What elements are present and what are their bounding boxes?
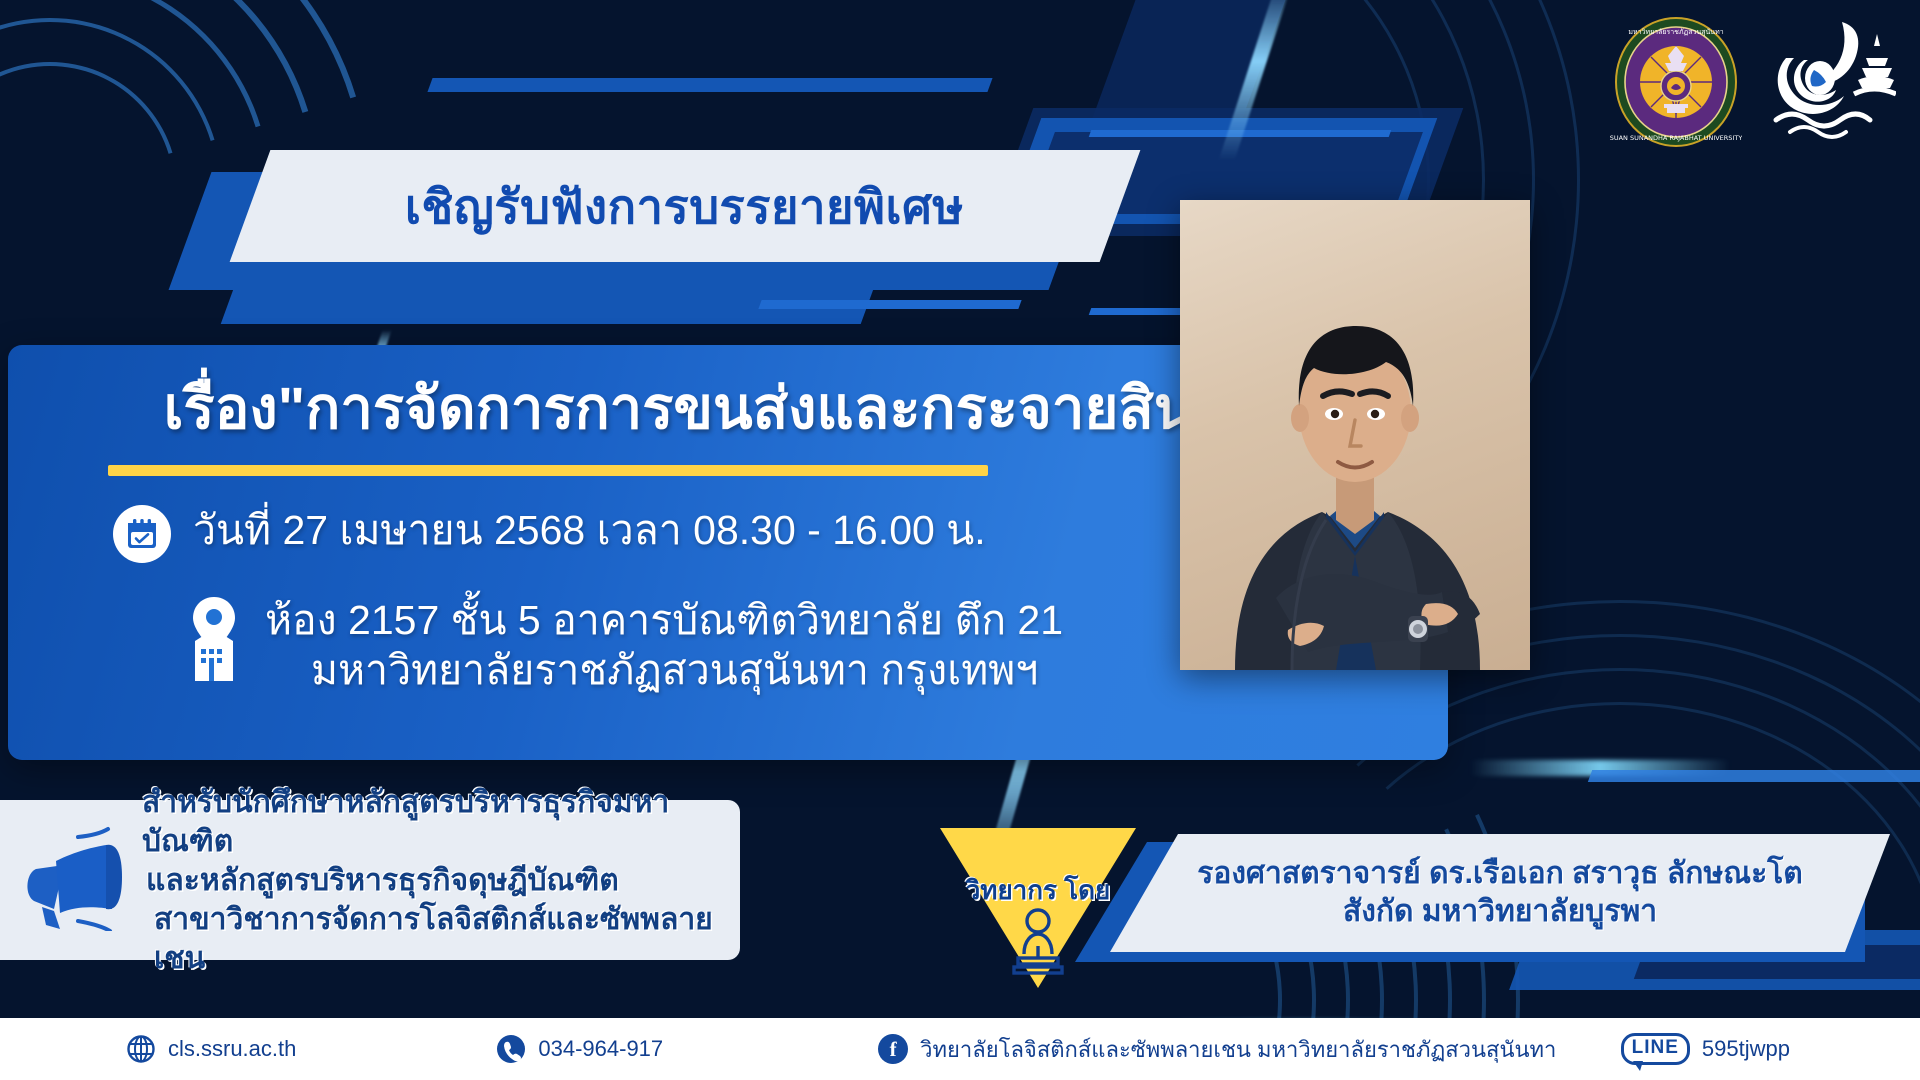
podium-speaker-icon [1002,908,1074,981]
footer-line[interactable]: LINE 595tjwpp [1621,1033,1790,1065]
contact-footer: cls.ssru.ac.th 034-964-917 f วิทยาลัยโลจ… [0,1018,1920,1080]
location-building-icon [183,595,245,690]
speaker-photo [1180,200,1530,670]
phone-icon [496,1034,526,1064]
footer-phone-text: 034-964-917 [538,1036,663,1062]
footer-facebook-text: วิทยาลัยโลจิสติกส์และซัพพลายเชน มหาวิทยา… [920,1032,1556,1067]
footer-website[interactable]: cls.ssru.ac.th [126,1034,296,1064]
venue-line-1: ห้อง 2157 ชั้น 5 อาคารบัณฑิตวิทยาลัย ตึก… [265,595,1063,645]
speaker-name-panel: รองศาสตราจารย์ ดร.เรือเอก สราวุธ ลักษณะโ… [1110,834,1890,952]
footer-line-text: 595tjwpp [1702,1036,1790,1062]
event-venue-row: ห้อง 2157 ชั้น 5 อาคารบัณฑิตวิทยาลัย ตึก… [183,595,1063,695]
speaker-affiliation: สังกัด มหาวิทยาลัยบูรพา [1343,893,1657,931]
logo-group: มหาวิทยาลัยราชภัฏสวนสุนันทา SUAN SUNANDH… [1610,16,1896,148]
venue-line-2: มหาวิทยาลัยราชภัฏสวนสุนันทา กรุงเทพฯ [265,645,1063,695]
footer-phone[interactable]: 034-964-917 [496,1034,663,1064]
footer-facebook[interactable]: f วิทยาลัยโลจิสติกส์และซัพพลายเชน มหาวิท… [878,1032,1556,1067]
speaker-portrait-illustration [1180,200,1530,670]
megaphone-icon [20,825,128,936]
audience-info-box: สำหรับนักศึกษาหลักสูตรบริหารธุรกิจมหาบัณ… [0,800,740,960]
audience-line-3: สาขาวิชาการจัดการโลจิสติกส์และซัพพลายเชน [154,900,740,978]
footer-website-text: cls.ssru.ac.th [168,1036,296,1062]
seal-bottom-text: SUAN SUNANDHA RAJABHAT UNIVERSITY [1610,134,1742,142]
audience-text-group: สำหรับนักศึกษาหลักสูตรบริหารธุรกิจมหาบัณ… [142,783,740,978]
title-underline-rule [108,465,988,476]
facebook-icon: f [878,1034,908,1064]
audience-line-2: และหลักสูตรบริหารธุรกิจดุษฎีบัณฑิต [146,861,740,900]
speaker-label: วิทยากร โดย [940,870,1136,911]
calendar-icon [113,505,171,563]
event-date-row: วันที่ 27 เมษายน 2568 เวลา 08.30 - 16.00… [113,505,986,563]
banner-title: เชิญรับฟังการบรรยายพิเศษ [405,169,964,244]
seal-top-text: มหาวิทยาลัยราชภัฏสวนสุนันทา [1628,28,1723,36]
decor-hairline-3 [758,300,1021,309]
decor-band-2 [427,78,992,92]
line-icon: LINE [1621,1033,1690,1065]
globe-icon [126,1034,156,1064]
logistics-wave-logo-icon [1746,16,1896,148]
poster-canvas: มหาวิทยาลัยราชภัฏสวนสุนันทา SUAN SUNANDH… [0,0,1920,1080]
event-date-text: วันที่ 27 เมษายน 2568 เวลา 08.30 - 16.00… [193,505,986,555]
decor-band-8 [1588,770,1920,782]
speaker-name: รองศาสตราจารย์ ดร.เรือเอก สราวุธ ลักษณะโ… [1197,855,1803,893]
ssru-seal-icon: มหาวิทยาลัยราชภัฏสวนสุนันทา SUAN SUNANDH… [1610,16,1742,148]
venue-text-group: ห้อง 2157 ชั้น 5 อาคารบัณฑิตวิทยาลัย ตึก… [265,595,1063,695]
banner-plate: เชิญรับฟังการบรรยายพิเศษ [230,150,1141,262]
audience-line-1: สำหรับนักศึกษาหลักสูตรบริหารธุรกิจมหาบัณ… [142,783,740,861]
